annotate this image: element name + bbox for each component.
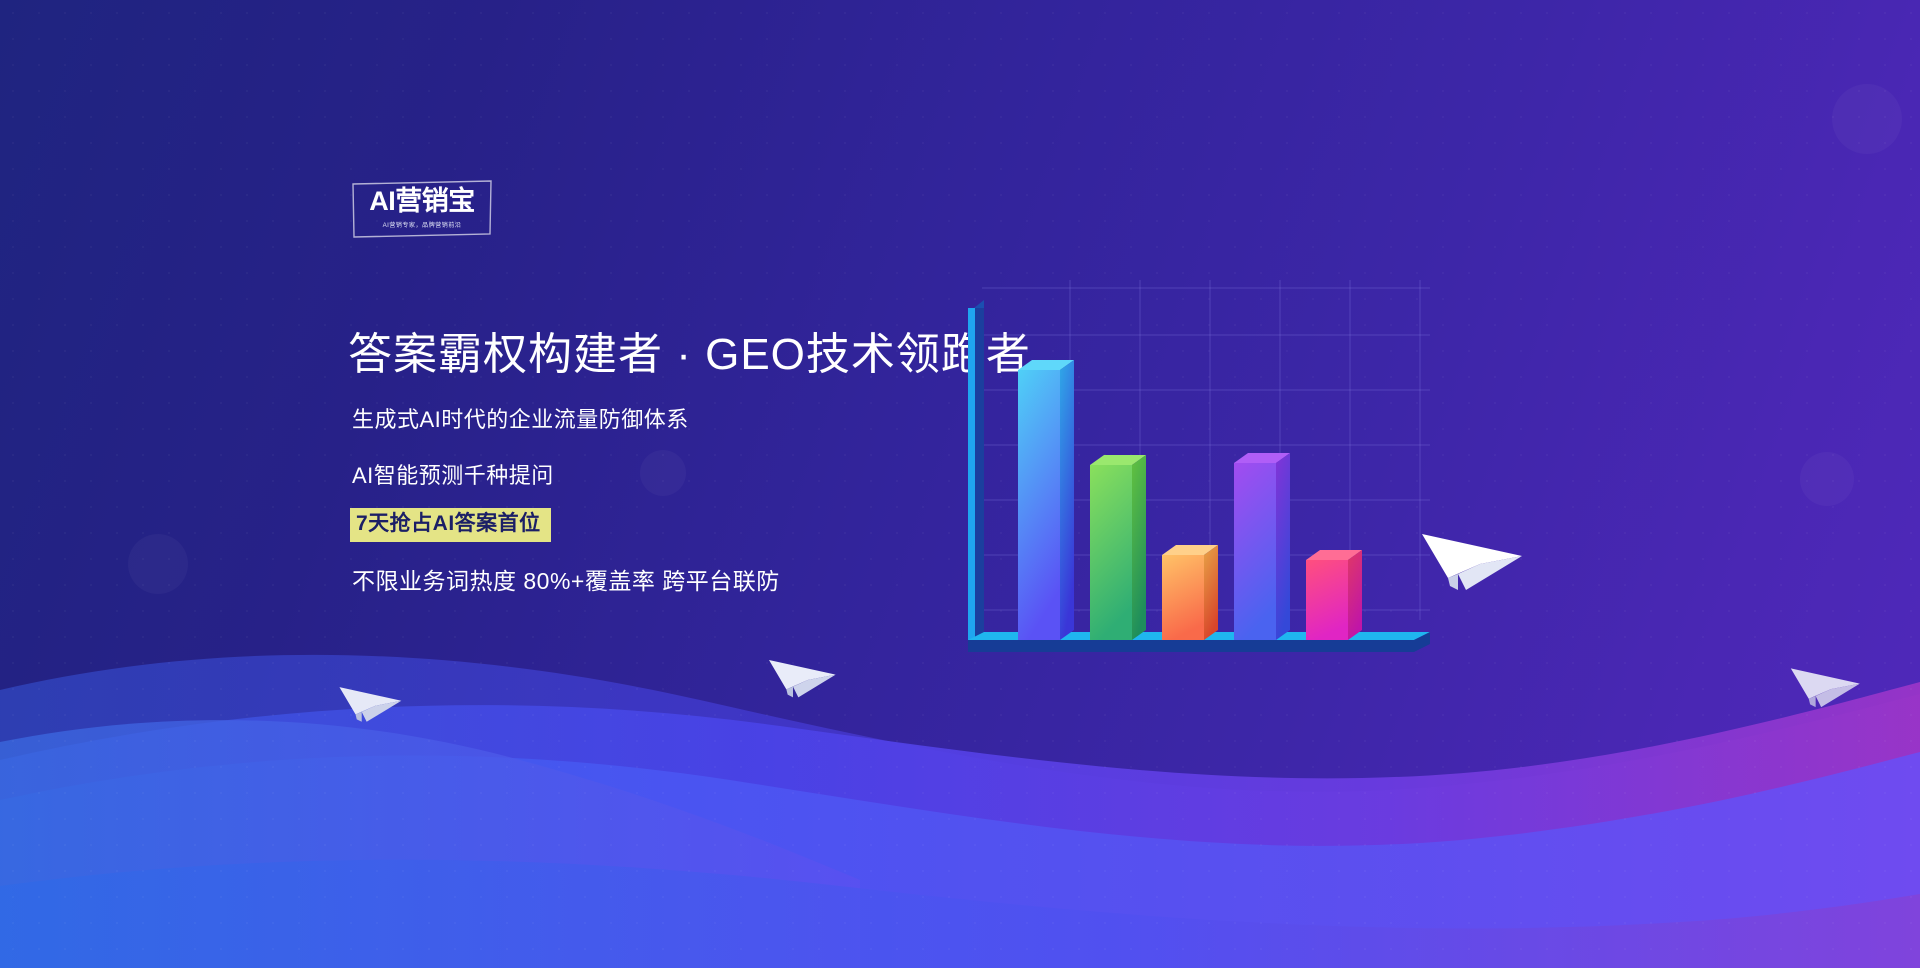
page-title: 答案霸权构建者 · GEO技术领跑者 [348,318,1031,382]
chart-bar [1018,356,1074,640]
bar-chart-svg [960,280,1460,700]
chart-bar [1090,455,1146,640]
paper-plane-icon [766,648,840,704]
logo-wordmark: AI营销宝 [352,185,492,217]
paper-plane-icon [1788,656,1864,714]
hero-subline-1: 生成式AI时代的企业流量防御体系 [352,402,689,434]
hero-banner: AI营销宝 AI营销专家，品牌营销前沿 答案霸权构建者 · GEO技术领跑者 生… [0,0,1920,968]
chart-bar [1162,545,1218,640]
bar-chart-illustration [960,280,1460,700]
paper-plane-icon [336,676,406,728]
logo-subtitle: AI营销专家，品牌营销前沿 [356,219,489,229]
chart-y-axis [968,300,984,640]
brand-logo[interactable]: AI营销宝 AI营销专家，品牌营销前沿 [352,180,492,238]
hero-subline-2: AI智能预测千种提问 [352,458,554,490]
chart-bar [1234,453,1290,640]
chart-bar [1306,550,1362,640]
paper-plane-icon [1418,516,1528,600]
hero-highlight-badge: 7天抢占AI答案首位 [350,508,551,542]
hero-tagline: 不限业务词热度 80%+覆盖率 跨平台联防 [352,562,780,596]
